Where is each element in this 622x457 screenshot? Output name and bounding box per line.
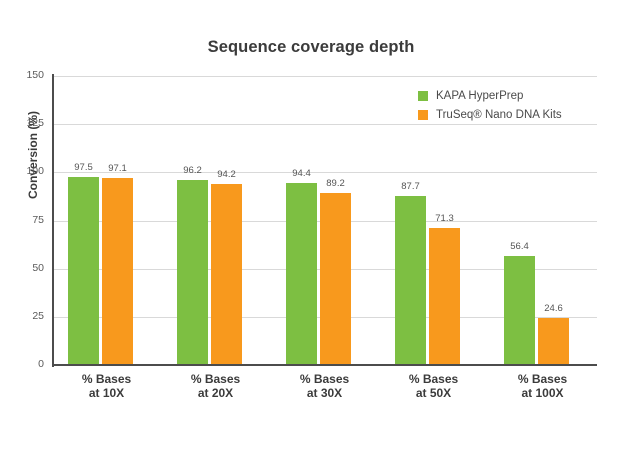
bar (68, 177, 99, 365)
gridline (52, 76, 597, 77)
x-axis-category-label: % Basesat 20X (161, 372, 270, 400)
bar (102, 178, 133, 365)
bar-value-label: 94.2 (205, 169, 248, 180)
category-label-line: % Bases (379, 372, 488, 386)
bar-value-label: 71.3 (423, 213, 466, 224)
y-axis-tick-label: 125 (0, 117, 44, 129)
legend-item-label: TruSeq® Nano DNA Kits (436, 109, 562, 121)
category-label-line: at 50X (379, 386, 488, 400)
gridline (52, 124, 597, 125)
legend-swatch-icon (418, 91, 428, 101)
category-label-line: % Bases (488, 372, 597, 386)
category-label-line: % Bases (52, 372, 161, 386)
x-axis-category-label: % Basesat 100X (488, 372, 597, 400)
category-label-line: at 100X (488, 386, 597, 400)
y-axis-tick-label: 50 (0, 262, 44, 274)
bar (504, 256, 535, 365)
y-axis-tick-label: 150 (0, 69, 44, 81)
y-axis-tick-label: 0 (0, 358, 44, 370)
y-axis-line (52, 74, 54, 367)
page-title: Sequence coverage depth (0, 38, 622, 57)
bar (395, 196, 426, 365)
y-axis-tick-label: 25 (0, 310, 44, 322)
category-label-line: at 20X (161, 386, 270, 400)
bar (177, 180, 208, 365)
bar-value-label: 87.7 (389, 181, 432, 192)
bar (211, 184, 242, 365)
x-axis-category-label: % Basesat 10X (52, 372, 161, 400)
y-axis-tick-label: 100 (0, 165, 44, 177)
category-label-line: at 30X (270, 386, 379, 400)
category-label-line: % Bases (270, 372, 379, 386)
bar (286, 183, 317, 365)
bar-chart-figure: Sequence coverage depth Conversion (%) 0… (0, 0, 622, 457)
bar-value-label: 89.2 (314, 178, 357, 189)
category-label-line: at 10X (52, 386, 161, 400)
x-axis-category-label: % Basesat 50X (379, 372, 488, 400)
legend-item-label: KAPA HyperPrep (436, 90, 523, 102)
bar (320, 193, 351, 365)
bar-value-label: 56.4 (498, 241, 541, 252)
x-axis-category-label: % Basesat 30X (270, 372, 379, 400)
bar-value-label: 24.6 (532, 303, 575, 314)
y-axis-tick-label: 75 (0, 214, 44, 226)
legend-item[interactable]: KAPA HyperPrep (418, 86, 562, 105)
legend-swatch-icon (418, 110, 428, 120)
bar (538, 318, 569, 365)
legend-item[interactable]: TruSeq® Nano DNA Kits (418, 105, 562, 124)
x-axis-line (52, 364, 597, 366)
bar-value-label: 97.1 (96, 163, 139, 174)
bar (429, 228, 460, 365)
category-label-line: % Bases (161, 372, 270, 386)
chart-legend: KAPA HyperPrepTruSeq® Nano DNA Kits (418, 86, 562, 124)
